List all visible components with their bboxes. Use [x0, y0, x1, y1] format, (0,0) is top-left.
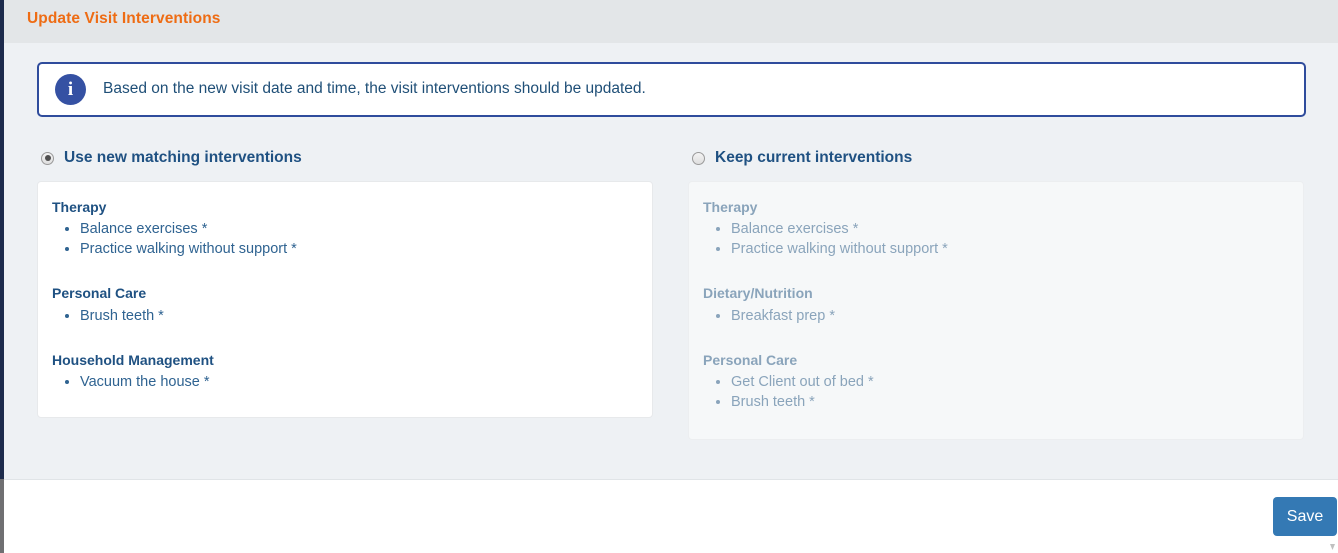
info-banner-message: Based on the new visit date and time, th…	[103, 80, 646, 99]
intervention-list: Balance exercises * Practice walking wit…	[52, 219, 638, 259]
option-column-keep-current: Keep current interventions Therapy Balan…	[688, 147, 1306, 440]
radio-option-keep-current[interactable]: Keep current interventions	[688, 147, 1306, 169]
app-sidebar-edge	[0, 0, 4, 553]
intervention-group-title: Therapy	[703, 197, 1289, 217]
intervention-list: Vacuum the house *	[52, 372, 638, 392]
modal-body: i Based on the new visit date and time, …	[4, 43, 1338, 479]
save-button[interactable]: Save	[1273, 497, 1337, 536]
radio-label-keep-current[interactable]: Keep current interventions	[715, 149, 912, 167]
list-item: Vacuum the house *	[52, 372, 638, 392]
intervention-group-title: Household Management	[52, 350, 638, 370]
radio-label-use-new[interactable]: Use new matching interventions	[64, 149, 302, 167]
modal-footer: Save	[4, 479, 1338, 553]
intervention-group-title: Personal Care	[52, 283, 638, 303]
option-column-use-new: Use new matching interventions Therapy B…	[37, 147, 655, 418]
intervention-group: Household Management Vacuum the house *	[52, 350, 638, 392]
interventions-panel-new: Therapy Balance exercises * Practice wal…	[37, 181, 653, 418]
intervention-group-title: Dietary/Nutrition	[703, 283, 1289, 303]
list-item: Brush teeth *	[703, 392, 1289, 412]
info-circle-icon: i	[55, 74, 86, 105]
intervention-group-title: Therapy	[52, 197, 638, 217]
list-item: Practice walking without support *	[703, 239, 1289, 259]
app-sidebar-edge-lower	[0, 479, 4, 553]
page-title: Update Visit Interventions	[27, 10, 221, 28]
intervention-group: Therapy Balance exercises * Practice wal…	[52, 197, 638, 259]
intervention-list: Brush teeth *	[52, 306, 638, 326]
list-item: Brush teeth *	[52, 306, 638, 326]
intervention-group-title: Personal Care	[703, 350, 1289, 370]
modal-header: Update Visit Interventions	[4, 0, 1338, 43]
update-visit-interventions-modal: Update Visit Interventions i Based on th…	[0, 0, 1338, 553]
list-item: Get Client out of bed *	[703, 372, 1289, 392]
radio-keep-current-interventions[interactable]	[692, 152, 705, 165]
info-banner: i Based on the new visit date and time, …	[37, 62, 1306, 117]
radio-use-new-matching-interventions[interactable]	[41, 152, 54, 165]
intervention-list: Balance exercises * Practice walking wit…	[703, 219, 1289, 259]
list-item: Balance exercises *	[703, 219, 1289, 239]
intervention-group: Personal Care Get Client out of bed * Br…	[703, 350, 1289, 412]
intervention-list: Get Client out of bed * Brush teeth *	[703, 372, 1289, 412]
intervention-group: Therapy Balance exercises * Practice wal…	[703, 197, 1289, 259]
interventions-panel-current: Therapy Balance exercises * Practice wal…	[688, 181, 1304, 440]
list-item: Practice walking without support *	[52, 239, 638, 259]
intervention-group: Personal Care Brush teeth *	[52, 283, 638, 325]
resize-handle-icon[interactable]	[1330, 544, 1335, 550]
list-item: Balance exercises *	[52, 219, 638, 239]
intervention-group: Dietary/Nutrition Breakfast prep *	[703, 283, 1289, 325]
list-item: Breakfast prep *	[703, 306, 1289, 326]
radio-option-use-new[interactable]: Use new matching interventions	[37, 147, 655, 169]
intervention-list: Breakfast prep *	[703, 306, 1289, 326]
